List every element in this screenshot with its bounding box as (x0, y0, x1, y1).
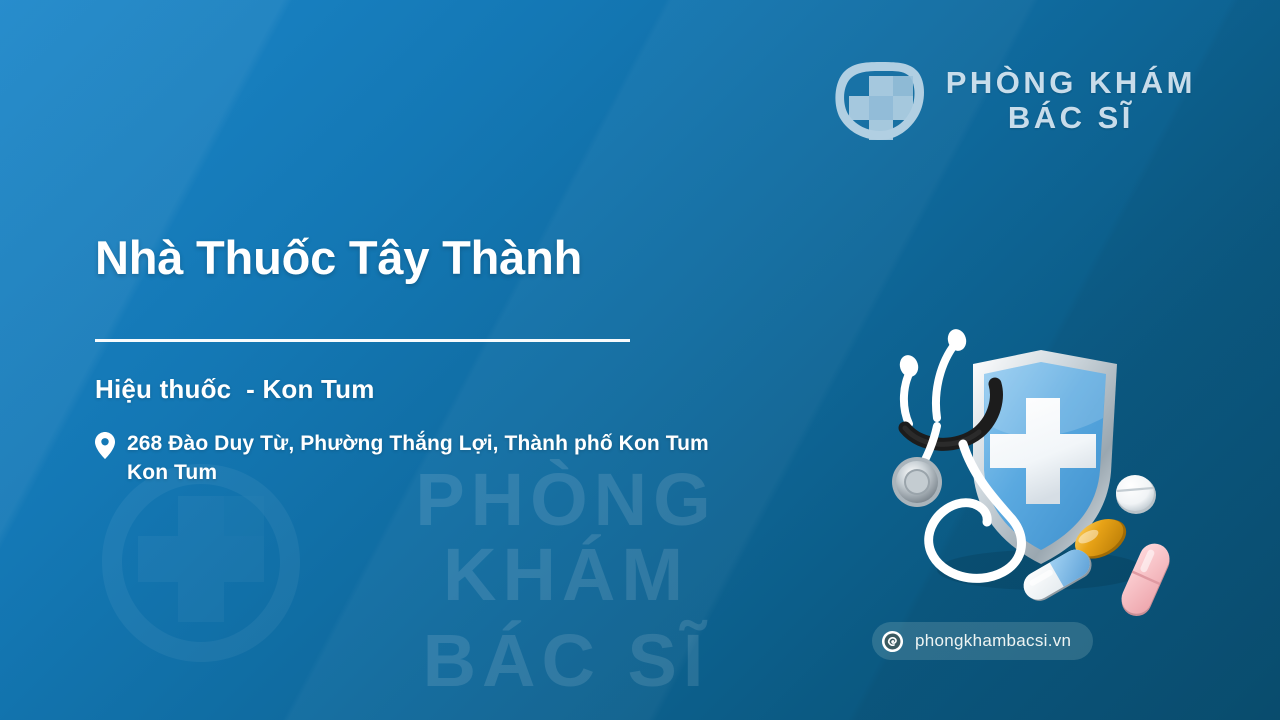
page-title: Nhà Thuốc Tây Thành (95, 232, 855, 285)
subtitle: Hiệu thuốc - Kon Tum (95, 374, 855, 405)
address-text: 268 Đào Duy Từ, Phường Thắng Lợi, Thành … (127, 429, 709, 489)
brand-line2: BÁC SĨ (946, 101, 1196, 136)
watermark-text: PHÒNG KHÁM BÁC SĨ (326, 462, 806, 698)
content-block: Nhà Thuốc Tây Thành Hiệu thuốc - Kon Tum… (95, 232, 855, 488)
url-badge[interactable]: phongkhambacsi.vn (872, 622, 1093, 660)
medical-illustration (845, 322, 1185, 622)
white-round-tablet (1116, 475, 1156, 514)
brand-logo: PHÒNG KHÁM BÁC SĨ (832, 58, 1196, 144)
cross-shield-icon (832, 58, 928, 144)
brand-text: PHÒNG KHÁM BÁC SĨ (946, 66, 1196, 135)
globe-icon (881, 630, 904, 653)
map-pin-icon (95, 432, 115, 459)
address-row: 268 Đào Duy Từ, Phường Thắng Lợi, Thành … (95, 429, 855, 489)
watermark-line2: BÁC SĨ (326, 623, 806, 698)
divider (95, 339, 630, 342)
brand-line1: PHÒNG KHÁM (946, 66, 1196, 101)
pharmacy-banner: PHÒNG KHÁM BÁC SĨ PHÒNG KHÁM BÁC SĨ Nhà … (0, 0, 1280, 720)
url-text: phongkhambacsi.vn (915, 631, 1071, 651)
